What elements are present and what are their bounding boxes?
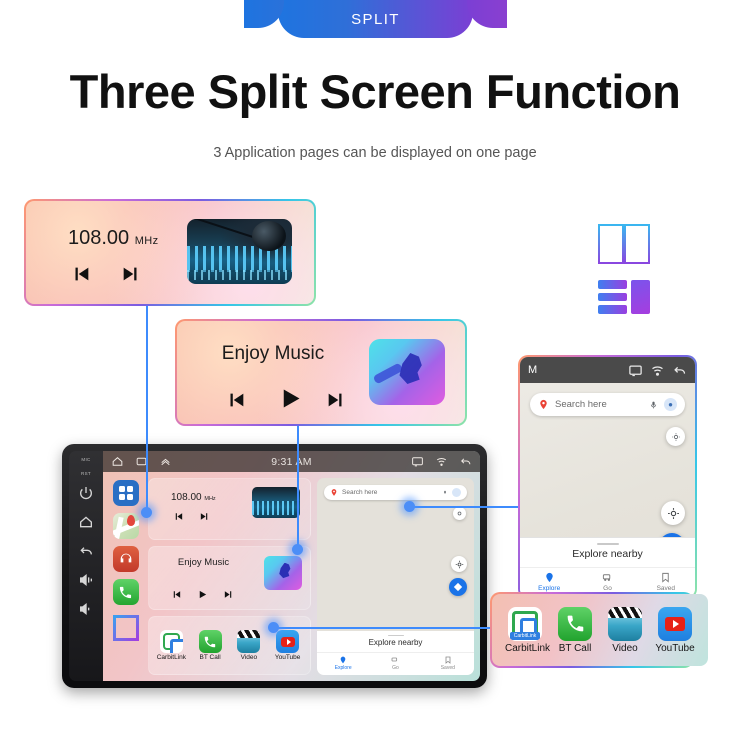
apps-tile: CarbitLink BT Call (148, 616, 311, 675)
connector-line-music (297, 424, 299, 549)
rail-apps-grid-icon[interactable] (113, 480, 139, 506)
music-title: Enjoy Music (177, 343, 369, 365)
location-pin-icon (544, 572, 555, 583)
rst-label: RST (81, 471, 91, 476)
mic-icon[interactable] (649, 399, 658, 411)
map-card-canvas[interactable]: Search here ● Explore nearby (520, 383, 695, 597)
mic-icon[interactable] (442, 489, 448, 497)
connector-dot-map (404, 501, 415, 512)
map-tile-search-input[interactable]: Search here (324, 485, 467, 500)
directions-icon (602, 572, 613, 583)
mic-label: MIC (81, 457, 90, 462)
tile-app-label-carbitlink: CarbitLink (154, 654, 188, 661)
music-next-button[interactable] (325, 389, 347, 416)
carbitlink-icon (160, 630, 183, 653)
rail-gradient-ring-icon (113, 615, 139, 641)
tile-app-youtube[interactable]: YouTube (271, 630, 305, 661)
app-bt-call[interactable]: BT Call (555, 607, 595, 654)
radio-next-button[interactable] (120, 263, 142, 290)
apps-zoom-card: CarbitLink CarbitLink BT Call Video YouT… (490, 592, 694, 668)
music-prev-button[interactable] (225, 389, 247, 416)
music-play-button[interactable] (277, 385, 304, 417)
bookmark-icon (444, 656, 452, 664)
carbitlink-badge: CarbitLink (510, 632, 540, 640)
device-hardware-bezel: MIC RST (69, 451, 103, 681)
chevron-up-icon[interactable] (159, 455, 172, 468)
app-label-carbitlink: CarbitLink (505, 643, 545, 654)
app-label-bt-call: BT Call (555, 643, 595, 654)
radio-frequency-value: 108.00 (68, 227, 129, 249)
radio-tile-next-button[interactable] (199, 509, 210, 527)
tile-app-label-video: Video (232, 654, 266, 661)
map-nav-explore-label: Explore (520, 585, 578, 592)
location-pin-icon (339, 656, 347, 664)
split-banner: SPLIT (278, 0, 473, 38)
explore-nearby-title: Explore nearby (520, 548, 695, 567)
connector-line-map (408, 506, 520, 508)
connector-line-apps (272, 627, 492, 629)
music-tile-prev-button[interactable] (171, 587, 182, 605)
map-tile-nav-saved-label: Saved (422, 665, 474, 671)
map-search-input[interactable]: Search here ● (530, 393, 685, 416)
sheet-grip[interactable] (388, 635, 404, 637)
radio-tile[interactable]: 108.00 MHz (148, 478, 311, 540)
page-subtitle: 3 Application pages can be displayed on … (0, 145, 750, 161)
radio-tile-frequency: 108.00 MHz (171, 492, 216, 503)
youtube-icon (276, 630, 299, 653)
page-root: SPLIT Three Split Screen Function 3 Appl… (0, 0, 750, 750)
radio-tile-prev-button[interactable] (173, 509, 184, 527)
connector-dot-radio (141, 507, 152, 518)
music-tile[interactable]: Enjoy Music (148, 546, 311, 611)
map-tile-search-placeholder: Search here (342, 489, 442, 496)
radio-tile-frequency-unit: MHz (204, 496, 215, 502)
map-zoom-card: M Search here ● (518, 355, 697, 599)
video-clapper-icon (608, 607, 642, 641)
bookmark-icon (660, 572, 671, 583)
back-icon[interactable] (459, 455, 472, 468)
status-bar-time: 9:31 AM (172, 456, 411, 468)
page-title: Three Split Screen Function (0, 64, 750, 119)
volume-up-icon[interactable] (78, 572, 94, 588)
map-nav-saved[interactable]: Saved (637, 572, 695, 592)
map-nav-go-label: Go (578, 585, 636, 592)
phone-icon (199, 630, 222, 653)
connector-line-radio (146, 304, 148, 512)
tile-app-label-bt-call: BT Call (193, 654, 227, 661)
music-album-art (369, 339, 445, 405)
radio-tile-artwork (252, 487, 300, 518)
app-label-youtube: YouTube (655, 643, 695, 654)
avatar[interactable]: ● (664, 398, 677, 411)
phone-icon (558, 607, 592, 641)
map-tile-explore-title: Explore nearby (317, 638, 474, 652)
map-layers-button[interactable] (666, 427, 685, 446)
back-icon[interactable] (78, 543, 94, 559)
music-tile-play-button[interactable] (197, 587, 208, 605)
radio-artwork (187, 219, 292, 284)
map-tile-nav-saved[interactable]: Saved (422, 656, 474, 671)
connector-dot-apps (268, 622, 279, 633)
map-card-status-bar: M (520, 357, 695, 383)
cast-icon[interactable] (411, 455, 424, 468)
youtube-icon (658, 607, 692, 641)
tile-app-label-youtube: YouTube (271, 654, 305, 661)
music-zoom-card: Enjoy Music (175, 319, 467, 426)
carbitlink-icon: CarbitLink (508, 607, 542, 641)
rail-maps-icon[interactable] (113, 513, 139, 539)
rail-headphones-icon[interactable] (113, 546, 139, 572)
two-pane-layout-icon (598, 224, 648, 262)
back-icon[interactable] (672, 363, 687, 378)
radio-frequency-unit: MHz (135, 235, 159, 247)
car-head-unit: MIC RST 9:31 AM (62, 444, 487, 688)
map-my-location-button[interactable] (661, 501, 685, 525)
screen-app-rail (109, 478, 142, 675)
split-layout-icons (598, 224, 650, 314)
directions-icon (391, 656, 399, 664)
map-tile-nav-go-label: Go (369, 665, 421, 671)
map-nav-explore[interactable]: Explore (520, 572, 578, 592)
tile-app-bt-call[interactable]: BT Call (193, 630, 227, 661)
wifi-icon (650, 363, 665, 378)
app-label-video: Video (605, 643, 645, 654)
maps-pin-icon (538, 398, 549, 411)
map-tile-nav-explore[interactable]: Explore (317, 656, 369, 671)
map-tile-nav-go[interactable]: Go (369, 656, 421, 671)
home-icon[interactable] (111, 455, 124, 468)
cast-icon (628, 363, 643, 378)
power-icon[interactable] (78, 485, 94, 501)
app-video[interactable]: Video (605, 607, 645, 654)
tile-app-carbitlink[interactable]: CarbitLink (154, 630, 188, 661)
map-tile-bottom-sheet[interactable]: Explore nearby Explore Go (317, 631, 474, 676)
screen-status-bar: 9:31 AM (103, 451, 480, 472)
device-screen: 9:31 AM (103, 451, 480, 681)
volume-down-icon[interactable] (78, 601, 94, 617)
map-tile-bottom-nav: Explore Go Saved (317, 652, 474, 675)
radio-frequency: 108.00 MHz (68, 227, 159, 250)
banner-label: SPLIT (351, 11, 400, 28)
map-tile-navigate-button[interactable] (449, 578, 467, 596)
map-nav-saved-label: Saved (637, 585, 695, 592)
map-search-placeholder: Search here (555, 399, 649, 410)
rail-phone-icon[interactable] (113, 579, 139, 605)
wifi-icon[interactable] (435, 455, 448, 468)
map-card-time: M (528, 364, 537, 376)
sheet-grip[interactable] (597, 543, 619, 545)
avatar[interactable] (452, 488, 461, 497)
maps-pin-icon (330, 488, 338, 497)
home-icon[interactable] (78, 514, 94, 530)
three-pane-layout-icon (598, 280, 650, 314)
music-tile-title: Enjoy Music (149, 557, 258, 568)
app-youtube[interactable]: YouTube (655, 607, 695, 654)
tile-app-video[interactable]: Video (232, 630, 266, 661)
video-clapper-icon (237, 630, 260, 653)
connector-dot-music (292, 544, 303, 555)
music-tile-next-button[interactable] (223, 587, 234, 605)
radio-prev-button[interactable] (70, 263, 92, 290)
app-carbitlink[interactable]: CarbitLink CarbitLink (505, 607, 545, 654)
map-bottom-sheet[interactable]: Explore nearby Explore Go Saved (520, 537, 695, 597)
map-tile-nav-explore-label: Explore (317, 665, 369, 671)
music-tile-album-art (264, 556, 302, 590)
radio-zoom-card: 108.00 MHz (24, 199, 316, 306)
map-tile-my-location-button[interactable] (451, 556, 467, 572)
map-tile-layers-button[interactable] (453, 507, 466, 520)
map-nav-go[interactable]: Go (578, 572, 636, 592)
radio-tile-frequency-value: 108.00 (171, 492, 202, 503)
